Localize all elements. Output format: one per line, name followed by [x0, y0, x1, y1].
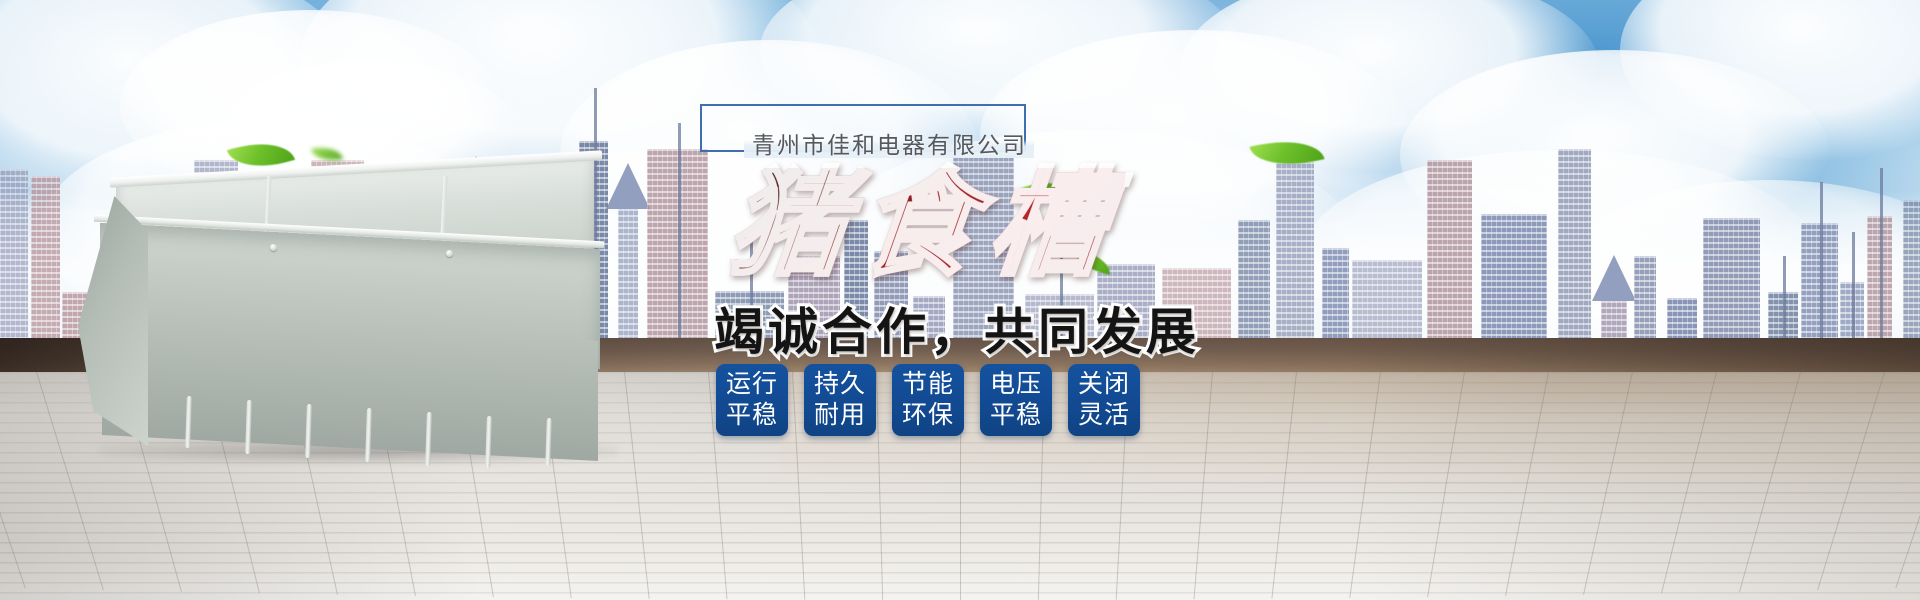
feature-badge-line2: 灵活	[1078, 400, 1130, 431]
trough-left-end-panel	[78, 196, 148, 446]
skyline-building	[31, 176, 60, 345]
feature-badge-line2: 平稳	[726, 400, 778, 431]
promo-banner: 青州市佳和电器有限公司 猪食槽 猪食槽 竭诚合作，共同发展 运行平稳持久耐用节能…	[0, 0, 1920, 600]
subtitle-slogan: 竭诚合作，共同发展	[714, 292, 1200, 364]
main-title: 猪食槽	[724, 168, 1126, 284]
skyline-spire	[1880, 168, 1883, 345]
company-name: 青州市佳和电器有限公司	[752, 126, 1027, 160]
feature-badge-line1: 节能	[902, 369, 954, 400]
trough-bolt	[270, 244, 277, 251]
skyline-spire	[1852, 232, 1855, 345]
skyline-building	[1903, 200, 1920, 345]
feature-badge[interactable]: 关闭灵活	[1068, 364, 1140, 436]
product-image-pig-feeding-trough	[58, 160, 618, 460]
feature-badge[interactable]: 运行平稳	[716, 364, 788, 436]
feature-badge-line1: 持久	[814, 369, 866, 400]
skyline-spire	[678, 123, 681, 345]
skyline-building	[1427, 160, 1472, 345]
feature-badge-line2: 平稳	[990, 400, 1042, 431]
skyline-building	[1703, 218, 1760, 345]
skyline-spire	[1820, 182, 1823, 345]
skyline-spire	[1783, 256, 1786, 345]
feature-badge[interactable]: 电压平稳	[980, 364, 1052, 436]
skyline-building	[618, 209, 638, 345]
skyline-building	[1481, 214, 1547, 345]
feature-badge[interactable]: 节能环保	[892, 364, 964, 436]
feature-badge-line2: 耐用	[814, 400, 866, 431]
feature-badge-list: 运行平稳持久耐用节能环保电压平稳关闭灵活	[716, 364, 1140, 436]
skyline-building	[1558, 149, 1591, 345]
feature-badge-line1: 电压	[990, 369, 1042, 400]
feature-badge[interactable]: 持久耐用	[804, 364, 876, 436]
banner-copy: 青州市佳和电器有限公司 猪食槽 猪食槽 竭诚合作，共同发展 运行平稳持久耐用节能…	[700, 96, 1420, 536]
feature-badge-line1: 关闭	[1078, 369, 1130, 400]
skyline-building	[1634, 256, 1656, 345]
feature-badge-line1: 运行	[726, 369, 778, 400]
feature-badge-line2: 环保	[902, 400, 954, 431]
trough-bolt	[446, 250, 453, 257]
skyline-building	[0, 169, 28, 345]
skyline-dome	[1592, 255, 1636, 301]
